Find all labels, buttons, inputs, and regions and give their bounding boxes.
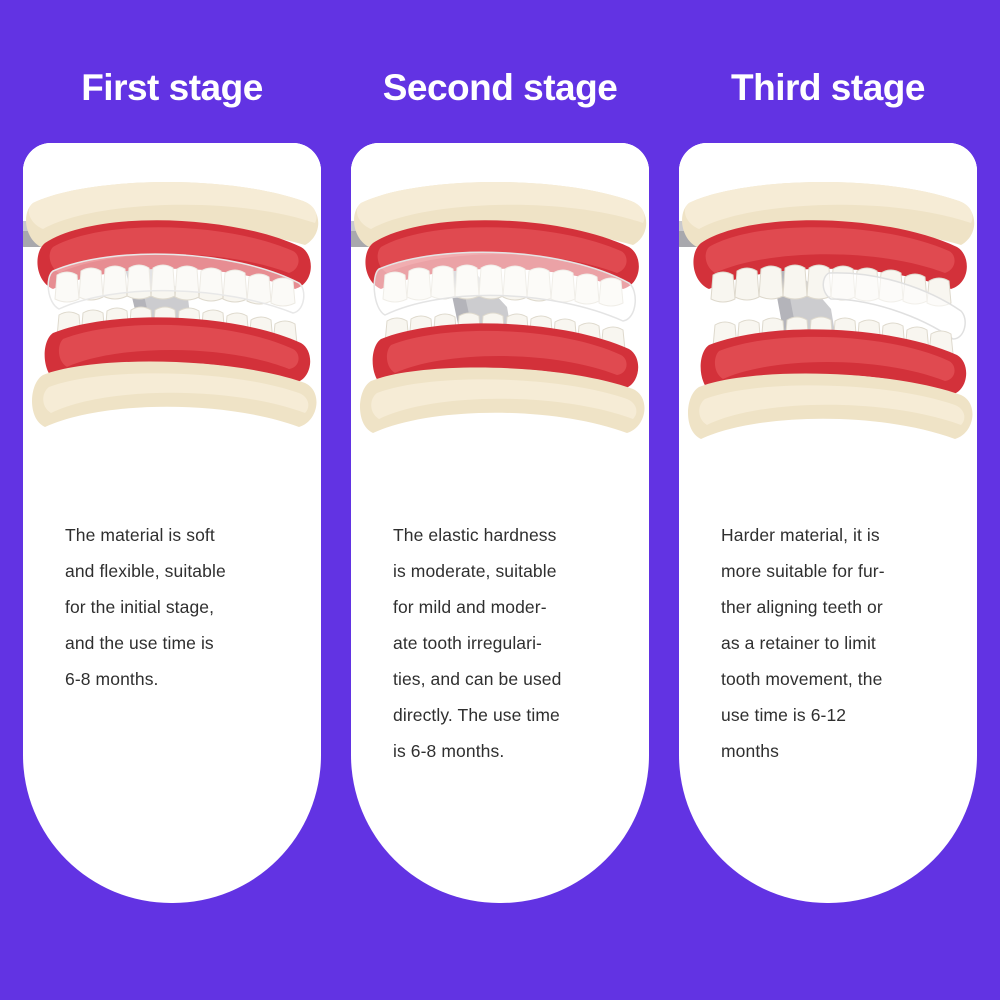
caption-line: The elastic hardness — [393, 517, 619, 553]
caption-line: for mild and moder- — [393, 589, 619, 625]
caption-line: use time is 6-12 — [721, 697, 947, 733]
stage-card-first: The material is soft and flexible, suita… — [23, 143, 321, 903]
caption-line: ties, and can be used — [393, 661, 619, 697]
caption-line: tooth movement, the — [721, 661, 947, 697]
caption-line: is 6-8 months. — [393, 733, 619, 769]
caption-line: ther aligning teeth or — [721, 589, 947, 625]
stage-column-second: Second stage — [350, 0, 650, 903]
caption-line: Harder material, it is — [721, 517, 947, 553]
stage-caption-first: The material is soft and flexible, suita… — [23, 475, 321, 697]
stage-columns: First stage — [0, 0, 1000, 903]
caption-line: months — [721, 733, 947, 769]
stage-title-second: Second stage — [383, 68, 618, 109]
stage-column-third: Third stage — [678, 0, 978, 903]
caption-line: directly. The use time — [393, 697, 619, 733]
caption-line: The material is soft — [65, 517, 291, 553]
caption-line: and the use time is — [65, 625, 291, 661]
caption-line: for the initial stage, — [65, 589, 291, 625]
stage-column-first: First stage — [22, 0, 322, 903]
stage-card-second: The elastic hardness is moderate, suitab… — [351, 143, 649, 903]
caption-line: 6-8 months. — [65, 661, 291, 697]
stage-card-third: Harder material, it is more suitable for… — [679, 143, 977, 903]
stage-title-first: First stage — [81, 68, 263, 109]
stage-title-third: Third stage — [731, 68, 925, 109]
stage-caption-second: The elastic hardness is moderate, suitab… — [351, 475, 649, 769]
caption-line: as a retainer to limit — [721, 625, 947, 661]
product-infographic: First stage — [0, 0, 1000, 1000]
dental-model-second-stage-image — [351, 143, 649, 475]
caption-line: ate tooth irregulari- — [393, 625, 619, 661]
caption-line: more suitable for fur- — [721, 553, 947, 589]
stage-caption-third: Harder material, it is more suitable for… — [679, 475, 977, 769]
dental-model-first-stage-image — [23, 143, 321, 475]
dental-model-third-stage-image — [679, 143, 977, 475]
caption-line: and flexible, suitable — [65, 553, 291, 589]
caption-line: is moderate, suitable — [393, 553, 619, 589]
